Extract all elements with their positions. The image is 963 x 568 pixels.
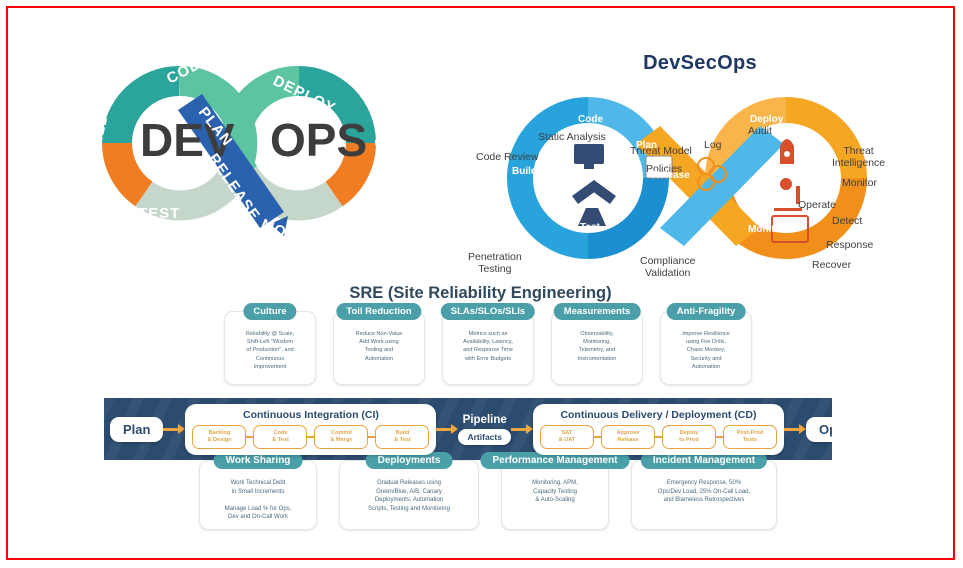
slide-frame: DEV OPS CODE BUILD PLAN TEST RELEASE DEP… xyxy=(6,6,955,560)
pipeline-arrow-4 xyxy=(784,424,806,434)
devsecops-label-recover: Recover xyxy=(812,260,851,272)
devsecops-label-threat-intelligence: Threat Intelligence xyxy=(832,146,885,169)
devsecops-label-monitor-outer: Monitor xyxy=(842,178,877,190)
sre-card: Incident ManagementEmergency Response, 5… xyxy=(631,460,777,530)
devops-ops-label: OPS xyxy=(270,114,367,166)
devsecops-label-code-review: Code Review xyxy=(476,152,538,164)
sre-card-body: Monitoring, APM, Capacity Testing & Auto… xyxy=(532,479,578,505)
pipeline-arrow-3 xyxy=(511,424,533,434)
pipeline-artifacts-group: Pipeline Artifacts xyxy=(458,414,510,445)
devsecops-inner-release: Release xyxy=(652,170,690,181)
sre-card: SLAs/SLOs/SLIsMetrics such as Availabili… xyxy=(442,311,534,385)
ci-stage-list: Backlog & DesignCode & TestCommit & Merg… xyxy=(192,425,429,449)
sre-card-title: Deployments xyxy=(366,452,453,469)
sre-top-card-row: CultureReliability @ Scale, Shift-Left "… xyxy=(138,311,838,385)
sre-card: MeasurementsObservability, Monitoring, T… xyxy=(551,311,643,385)
sre-section-title: SRE (Site Reliability Engineering) xyxy=(8,284,953,303)
sre-card-body: Observability, Monitoring, Telemetry, an… xyxy=(578,330,617,363)
sre-card-body: Improve Resilience using Fire Drills, Ch… xyxy=(682,330,730,371)
pipeline-stage[interactable]: Backlog & Design xyxy=(192,425,246,449)
devsecops-inner-test: Test xyxy=(580,222,600,233)
devops-segment-test: TEST xyxy=(138,205,180,222)
stage-connector xyxy=(716,436,723,438)
sre-card-body: Work Technical Debt in Small Increments … xyxy=(225,479,292,522)
pipeline-stage[interactable]: Approve Release xyxy=(601,425,655,449)
devops-segment-monitor: MONITOR xyxy=(259,216,337,261)
pipeline-stage[interactable]: SAT & UAT xyxy=(540,425,594,449)
devops-infinity-diagram: DEV OPS CODE BUILD PLAN TEST RELEASE DEP… xyxy=(74,46,404,266)
pipeline-stage[interactable]: Code & Test xyxy=(253,425,307,449)
devsecops-inner-plan: Plan xyxy=(636,140,657,151)
sre-card: Performance ManagementMonitoring, APM, C… xyxy=(501,460,609,530)
sre-bottom-card-row: Work SharingWork Technical Debt in Small… xyxy=(158,460,818,530)
pipeline-stage[interactable]: Post-Prod Tests xyxy=(723,425,777,449)
devsecops-label-operate: Operate xyxy=(798,200,836,212)
sre-card-title: Culture xyxy=(243,303,296,320)
pipeline-plan-pill[interactable]: Plan xyxy=(110,417,163,442)
sre-card-title: Work Sharing xyxy=(214,452,303,469)
cicd-pipeline-bar: Plan Continuous Integration (CI) Backlog… xyxy=(104,398,832,460)
sre-card-title: Incident Management xyxy=(641,452,767,469)
pipeline-stage[interactable]: Deploy to Prod xyxy=(662,425,716,449)
sre-card-body: Reliability @ Scale, Shift-Left "Wisdom … xyxy=(246,330,294,371)
devsecops-label-compliance-validation: Compliance Validation xyxy=(640,256,695,279)
pipeline-stage[interactable]: Commit & Merge xyxy=(314,425,368,449)
devsecops-label-penetration-testing: Penetration Testing xyxy=(468,252,522,275)
devsecops-label-static-analysis: Static Analysis xyxy=(538,132,606,144)
devsecops-label-response: Response xyxy=(826,240,873,252)
cd-title: Continuous Delivery / Deployment (CD) xyxy=(540,409,777,421)
stage-connector xyxy=(594,436,601,438)
sre-card: Work SharingWork Technical Debt in Small… xyxy=(199,460,317,530)
sre-card-body: Emergency Response, 50% Ops/Dev Load, 25… xyxy=(658,479,750,505)
pipeline-artifacts-pill[interactable]: Artifacts xyxy=(458,429,510,445)
devsecops-diagram: DevSecOps xyxy=(460,48,930,278)
ci-group: Continuous Integration (CI) Backlog & De… xyxy=(185,404,436,455)
devsecops-label-audit: Audit xyxy=(748,126,772,138)
pipeline-stage[interactable]: Build & Test xyxy=(375,425,429,449)
sre-card: Toil ReductionReduce Non-Value Add Work … xyxy=(333,311,425,385)
devsecops-inner-code: Code xyxy=(578,114,603,125)
devops-segment-operate: OPERATE xyxy=(370,135,403,215)
sre-card-body: Gradual Releases using Green/Blue, A/B, … xyxy=(368,479,450,513)
cd-stage-list: SAT & UATApprove ReleaseDeploy to ProdPo… xyxy=(540,425,777,449)
cd-group: Continuous Delivery / Deployment (CD) SA… xyxy=(533,404,784,455)
stage-connector xyxy=(307,436,314,438)
devsecops-label-log: Log xyxy=(704,140,722,152)
stage-connector xyxy=(368,436,375,438)
ci-title: Continuous Integration (CI) xyxy=(192,409,429,421)
sre-card-title: SLAs/SLOs/SLIs xyxy=(441,303,535,320)
pipeline-arrow-1 xyxy=(163,424,185,434)
sre-card-body: Metrics such as Availability, Latency, a… xyxy=(463,330,513,363)
devsecops-inner-build: Build xyxy=(512,166,537,177)
devsecops-label-detect: Detect xyxy=(832,216,862,228)
sre-card: Anti-FragilityImprove Resilience using F… xyxy=(660,311,752,385)
sre-card: DeploymentsGradual Releases using Green/… xyxy=(339,460,479,530)
sre-card: CultureReliability @ Scale, Shift-Left "… xyxy=(224,311,316,385)
pipeline-operate-pill[interactable]: Operate xyxy=(806,417,832,442)
sre-card-title: Performance Management xyxy=(480,452,629,469)
sre-card-body: Reduce Non-Value Add Work using Tooling … xyxy=(356,330,403,363)
pipeline-arrow-2 xyxy=(436,424,458,434)
devsecops-inner-monitor: Monitor xyxy=(748,224,785,235)
stage-connector xyxy=(655,436,662,438)
sre-card-title: Anti-Fragility xyxy=(667,303,746,320)
sre-card-title: Measurements xyxy=(554,303,641,320)
pipeline-label: Pipeline xyxy=(463,414,507,426)
devsecops-inner-deploy: Deploy xyxy=(750,114,783,125)
sre-card-title: Toil Reduction xyxy=(336,303,421,320)
stage-connector xyxy=(246,436,253,438)
